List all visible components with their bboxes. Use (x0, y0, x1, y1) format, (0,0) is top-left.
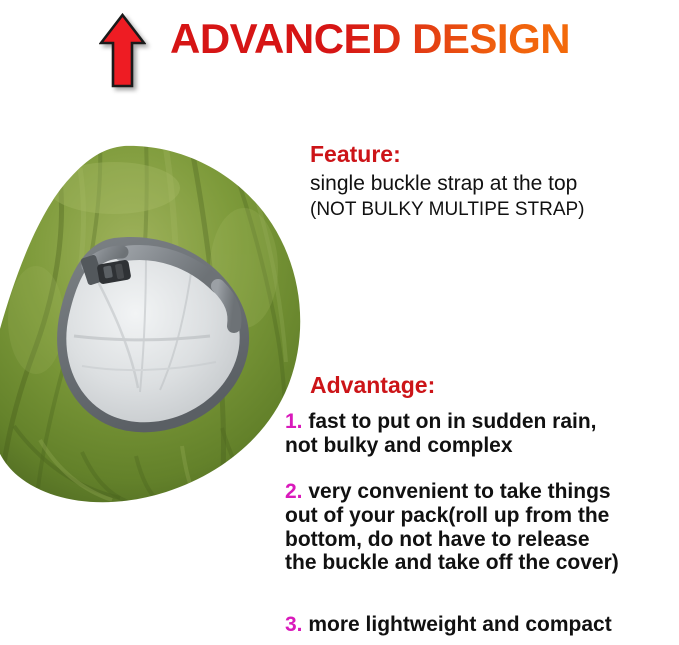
product-infographic-page: ADVANCED DESIGN (0, 0, 679, 645)
page-title: ADVANCED DESIGN (170, 18, 570, 60)
advantage-item-3-text-1: more lightweight and compact (308, 613, 611, 636)
feature-line-1: single buckle strap at the top (310, 171, 675, 198)
advantage-block: Advantage: 1. fast to put on in sudden r… (285, 371, 679, 637)
advantage-item-2: 2. very convenient to take things out of… (285, 480, 679, 576)
advantage-item-1: 1. fast to put on in sudden rain, not bu… (285, 410, 679, 458)
advantage-item-1-text-1: fast to put on in sudden rain, (308, 410, 596, 433)
advantage-item-2-text-1: very convenient to take things (308, 480, 610, 503)
advantage-item-3: 3. more lightweight and compact (285, 613, 679, 637)
advantage-item-2-line-3: bottom, do not have to release (285, 528, 679, 552)
up-arrow-icon (99, 13, 146, 89)
advantage-item-3-line-1: 3. more lightweight and compact (285, 613, 679, 637)
feature-line-2: (NOT BULKY MULTIPE STRAP) (310, 198, 675, 222)
advantage-item-1-number: 1. (285, 410, 303, 433)
advantage-item-2-line-4: the buckle and take off the cover) (285, 551, 679, 575)
advantage-item-1-line-2: not bulky and complex (285, 434, 679, 458)
backpack-rain-cover-photo (0, 140, 308, 512)
advantage-item-3-number: 3. (285, 613, 303, 636)
advantage-item-2-line-2: out of your pack(roll up from the (285, 504, 679, 528)
feature-label: Feature: (310, 140, 675, 169)
feature-block: Feature: single buckle strap at the top … (310, 140, 675, 222)
advantage-label: Advantage: (310, 371, 679, 400)
advantage-item-2-line-1: 2. very convenient to take things (285, 480, 679, 504)
advantage-item-2-number: 2. (285, 480, 303, 503)
header-band: ADVANCED DESIGN (0, 0, 679, 110)
advantage-item-1-line-1: 1. fast to put on in sudden rain, (285, 410, 679, 434)
